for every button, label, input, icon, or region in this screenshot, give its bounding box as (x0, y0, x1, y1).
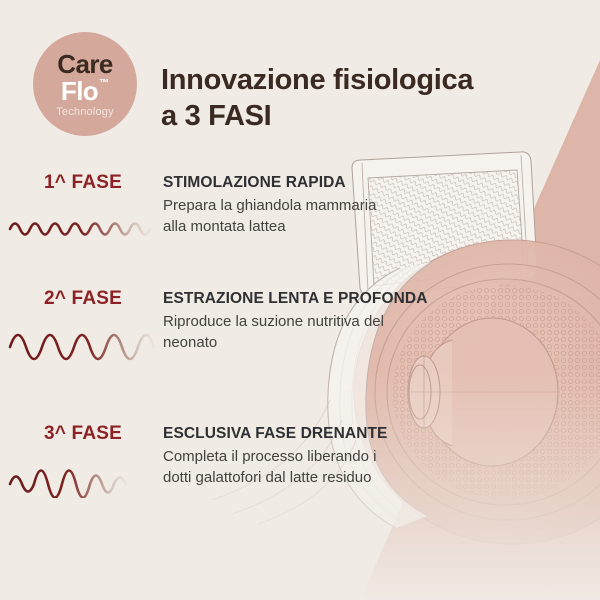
phase-2-right: ESTRAZIONE LENTA E PROFONDA Riproduce la… (163, 289, 463, 353)
page-title: Innovazione fisiologica a 3 FASI (161, 63, 581, 134)
phase-3-description: Completa il processo liberando i dotti g… (163, 447, 463, 488)
phase-3-title: ESCLUSIVA FASE DRENANTE (163, 424, 463, 443)
logo-text-care: Care (57, 51, 112, 77)
logo-text-technology: Technology (56, 107, 114, 118)
phase-2-left: 2^ FASE (8, 288, 158, 363)
phase-3-left: 3^ FASE (8, 423, 158, 498)
careflo-logo: Care Flo ™ Technology (33, 32, 137, 136)
trademark-icon: ™ (99, 79, 109, 89)
phase-3-right: ESCLUSIVA FASE DRENANTE Completa il proc… (163, 424, 463, 488)
phase-1-right: STIMOLAZIONE RAPIDA Prepara la ghiandola… (163, 173, 463, 237)
phase-1-left: 1^ FASE (8, 172, 158, 249)
phase-3-label: 3^ FASE (8, 423, 158, 445)
wave-graphic-phase-1 (8, 203, 158, 249)
logo-flo-row: Flo ™ (61, 78, 109, 104)
phase-2-title: ESTRAZIONE LENTA E PROFONDA (163, 289, 463, 308)
header: Care Flo ™ Technology Innovazione fisiol… (0, 0, 600, 150)
phase-1-label: 1^ FASE (8, 172, 158, 194)
phase-1-title: STIMOLAZIONE RAPIDA (163, 173, 463, 192)
wave-graphic-phase-2 (8, 317, 158, 363)
wave-graphic-phase-3 (8, 452, 158, 498)
phase-2-description: Riproduce la suzione nutritiva del neona… (163, 312, 463, 353)
infographic-page: Care Flo ™ Technology Innovazione fisiol… (0, 0, 600, 600)
phase-1-description: Prepara la ghiandola mammaria alla monta… (163, 196, 463, 237)
logo-text-flo: Flo (61, 78, 98, 104)
phase-2-label: 2^ FASE (8, 288, 158, 310)
